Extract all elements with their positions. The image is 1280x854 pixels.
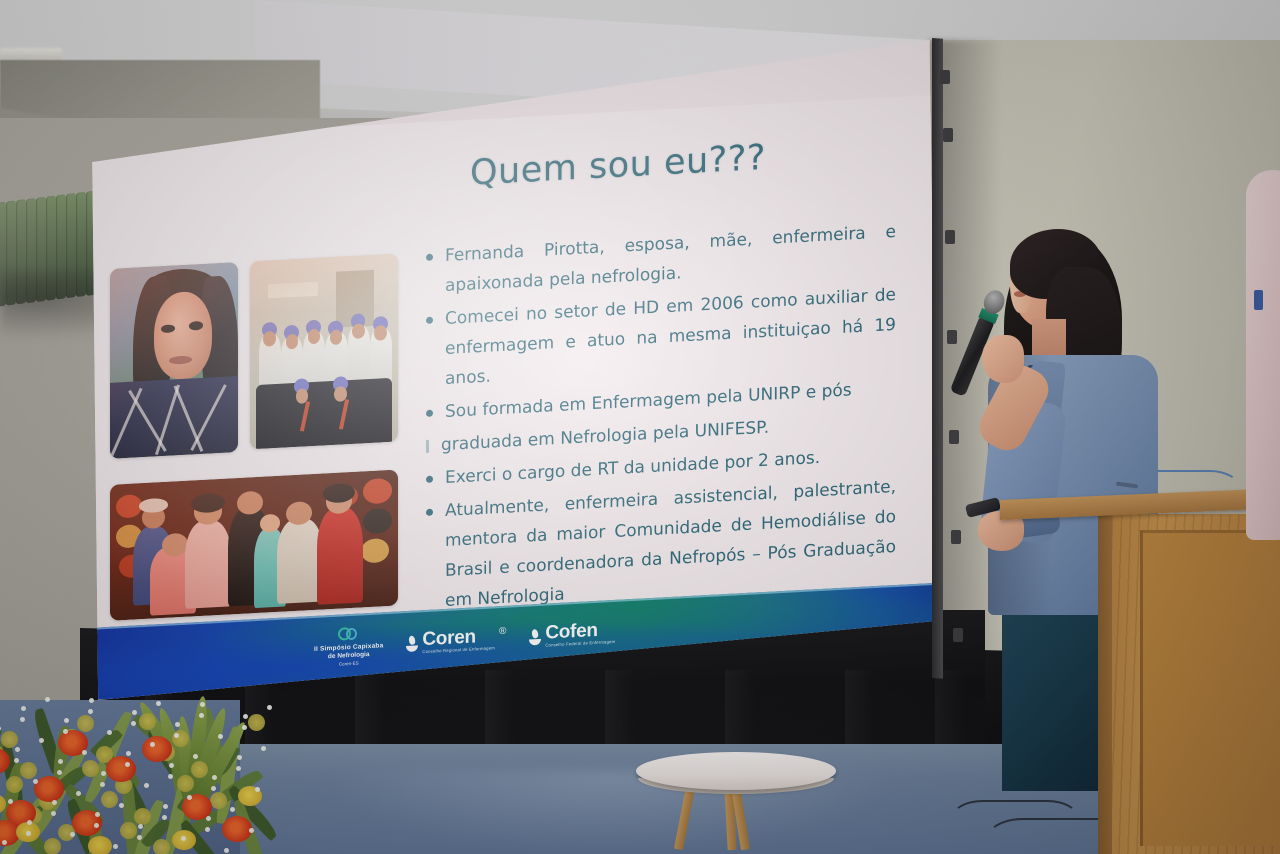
- goldenrod-cluster: [6, 776, 23, 793]
- babys-breath: [119, 803, 124, 808]
- goldenrod-cluster: [153, 839, 170, 854]
- babys-breath: [255, 787, 260, 792]
- goldenrod-cluster: [101, 791, 118, 808]
- babys-breath: [95, 812, 100, 817]
- bullet-dot-icon: [426, 476, 433, 483]
- photo-family-party: [110, 469, 398, 620]
- screen-right-frame: [932, 38, 943, 679]
- goldenrod-cluster: [134, 808, 151, 825]
- gerbera-bloom: [142, 736, 172, 762]
- floral-arrangement: [0, 690, 276, 854]
- wooden-podium: [1010, 500, 1280, 854]
- gerbera-bloom: [222, 816, 252, 842]
- white-round-side-table: [636, 752, 836, 854]
- babys-breath: [212, 775, 217, 780]
- photo-hospital-staff-group: [250, 253, 398, 449]
- slide-bullet-list: Fernanda Pirotta, esposa, mãe, enfermeir…: [426, 217, 896, 620]
- goldenrod-cluster: [120, 822, 137, 839]
- conference-room-scene: Quem sou eu???: [0, 0, 1280, 854]
- babys-breath: [64, 718, 69, 723]
- goldenrod-cluster: [139, 713, 156, 730]
- babys-breath: [187, 795, 192, 800]
- babys-breath: [113, 844, 118, 849]
- babys-breath: [163, 804, 168, 809]
- bullet-dot-icon: [426, 509, 433, 516]
- babys-breath: [174, 733, 179, 738]
- bullet-dot-icon: [426, 317, 433, 324]
- goldenrod-cluster: [1, 731, 18, 748]
- babys-breath: [14, 758, 19, 763]
- slide-title: Quem sou eu???: [470, 138, 766, 194]
- babys-breath: [45, 697, 50, 702]
- babys-breath: [168, 774, 173, 779]
- goldenrod-cluster: [20, 762, 37, 779]
- babys-breath: [15, 747, 20, 752]
- babys-breath: [181, 836, 186, 841]
- babys-breath: [224, 848, 229, 853]
- simposio-rings-icon: [338, 626, 360, 643]
- babys-breath: [205, 827, 210, 832]
- screen-mount-bracket: [943, 128, 953, 142]
- babys-breath: [249, 828, 254, 833]
- hand-holding-microphone: [982, 335, 1024, 383]
- background-person-pink: [1246, 170, 1280, 540]
- babys-breath: [20, 717, 25, 722]
- goldenrod-cluster: [77, 715, 94, 732]
- babys-breath: [237, 755, 242, 760]
- babys-breath: [169, 763, 174, 768]
- babys-breath: [76, 791, 81, 796]
- cofen-logo: Cofen Conselho Federal de Enfermagem: [528, 620, 615, 650]
- babys-breath: [89, 698, 94, 703]
- babys-breath: [63, 729, 68, 734]
- presentation-slide: Quem sou eu???: [88, 95, 938, 700]
- bullet-dot-icon: [426, 410, 433, 417]
- babys-breath: [261, 746, 266, 751]
- babys-breath: [88, 709, 93, 714]
- babys-breath: [138, 824, 143, 829]
- table-top: [636, 752, 836, 790]
- projection-screen: Quem sou eu???: [88, 40, 938, 700]
- babys-breath: [200, 702, 205, 707]
- babys-breath: [58, 759, 63, 764]
- lamp-icon: [405, 635, 419, 652]
- goldenrod-cluster: [191, 761, 208, 778]
- screen-mount-bracket: [945, 230, 955, 244]
- babys-breath: [243, 714, 248, 719]
- babys-breath: [206, 816, 211, 821]
- gerbera-bloom: [34, 776, 64, 802]
- yellow-bloom: [88, 836, 112, 854]
- babys-breath: [101, 771, 106, 776]
- goldenrod-cluster: [177, 775, 194, 792]
- babys-breath: [39, 738, 44, 743]
- lamp-icon: [528, 628, 542, 645]
- babys-breath: [131, 721, 136, 726]
- goldenrod-cluster: [248, 714, 265, 731]
- babys-breath: [193, 754, 198, 759]
- babys-breath: [126, 751, 131, 756]
- babys-breath: [132, 710, 137, 715]
- goldenrod-cluster: [82, 760, 99, 777]
- babys-breath: [27, 820, 32, 825]
- coren-registered-mark: ®: [499, 626, 506, 637]
- babys-breath: [218, 734, 223, 739]
- babys-breath: [33, 779, 38, 784]
- babys-breath: [267, 705, 272, 710]
- babys-breath: [175, 722, 180, 727]
- bullet-bar-icon: [426, 440, 429, 453]
- babys-breath: [156, 701, 161, 706]
- table-leg: [674, 786, 695, 851]
- babys-breath: [100, 782, 105, 787]
- babys-breath: [236, 766, 241, 771]
- babys-breath: [107, 730, 112, 735]
- goldenrod-cluster: [44, 838, 61, 854]
- babys-breath: [162, 815, 167, 820]
- babys-breath: [230, 807, 235, 812]
- simposio-logo: II Simpósio Capixaba de Nefrologia Coren…: [314, 624, 383, 669]
- babys-breath: [94, 823, 99, 828]
- babys-breath: [242, 725, 247, 730]
- babys-breath: [199, 713, 204, 718]
- photo-collage: [110, 253, 410, 621]
- simposio-line3: Coren-ES: [339, 660, 359, 668]
- screen-mount-bracket: [940, 70, 950, 84]
- background-person-badge: [1254, 290, 1263, 310]
- babys-breath: [57, 770, 62, 775]
- babys-breath: [2, 840, 7, 845]
- babys-breath: [150, 742, 155, 747]
- babys-breath: [82, 750, 87, 755]
- photo-selfie-portrait: [110, 262, 238, 459]
- babys-breath: [26, 831, 31, 836]
- coren-logo: Coren Conselho Regional de Enfermagem ®: [405, 626, 506, 656]
- gerbera-bloom: [106, 756, 136, 782]
- babys-breath: [137, 835, 142, 840]
- babys-breath: [8, 799, 13, 804]
- goldenrod-cluster: [210, 792, 227, 809]
- screen-mount-bracket: [947, 330, 957, 344]
- babys-breath: [211, 786, 216, 791]
- bullet-dot-icon: [426, 254, 433, 261]
- babys-breath: [125, 762, 130, 767]
- babys-breath: [21, 706, 26, 711]
- babys-breath: [70, 832, 75, 837]
- screen-mount-bracket: [949, 430, 959, 444]
- babys-breath: [51, 811, 56, 816]
- babys-breath: [52, 800, 57, 805]
- babys-breath: [144, 783, 149, 788]
